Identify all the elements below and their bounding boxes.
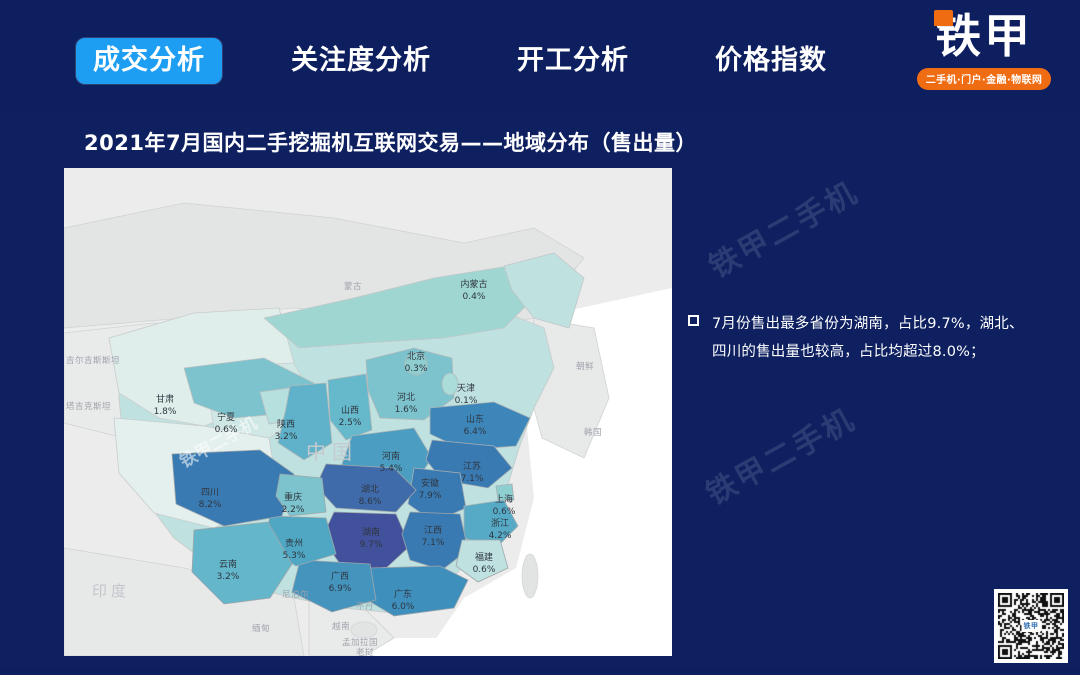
qr-center-label: 铁甲 (1022, 620, 1041, 632)
nav-tab-list: 成交分析 关注度分析 开工分析 价格指数 (76, 38, 844, 84)
insight-callout: 7月份售出最多省份为湖南，占比9.7%，湖北、四川的售出量也较高，占比均超过8.… (712, 310, 1030, 367)
tab-kaigong-fenxi[interactable]: 开工分析 (500, 38, 646, 84)
page-title: 2021年7月国内二手挖掘机互联网交易——地域分布（售出量） (84, 127, 697, 157)
tab-guanzhudu-fenxi[interactable]: 关注度分析 (274, 38, 448, 84)
tab-jiage-zhishu[interactable]: 价格指数 (698, 38, 844, 84)
top-nav-bar: 成交分析 关注度分析 开工分析 价格指数 铁甲 二手机·门户·金融·物联网 (0, 0, 1080, 112)
insight-text: 7月份售出最多省份为湖南，占比9.7%，湖北、四川的售出量也较高，占比均超过8.… (712, 310, 1030, 367)
qr-code[interactable]: 铁甲 (994, 589, 1068, 663)
map-vector: 铁甲二手机 (64, 168, 672, 656)
watermark-top: 铁甲二手机 (700, 168, 866, 286)
china-choropleth-map[interactable]: 铁甲二手机 蒙古 吉尔吉斯斯坦 塔吉克斯坦 尼泊尔 不丹 孟加拉国 印度 缅甸 … (64, 168, 672, 656)
bottom-strip (0, 667, 1080, 675)
brand-logo[interactable]: 铁甲 二手机·门户·金融·物联网 (910, 8, 1058, 105)
tab-chengjiao-fenxi[interactable]: 成交分析 (76, 38, 222, 84)
bullet-square-icon (688, 315, 699, 326)
logo-accent-block (934, 10, 953, 26)
watermark-bottom: 铁甲二手机 (697, 395, 863, 513)
logo-tagline: 二手机·门户·金融·物联网 (917, 68, 1052, 90)
logo-wordmark: 铁甲 (935, 8, 1033, 64)
